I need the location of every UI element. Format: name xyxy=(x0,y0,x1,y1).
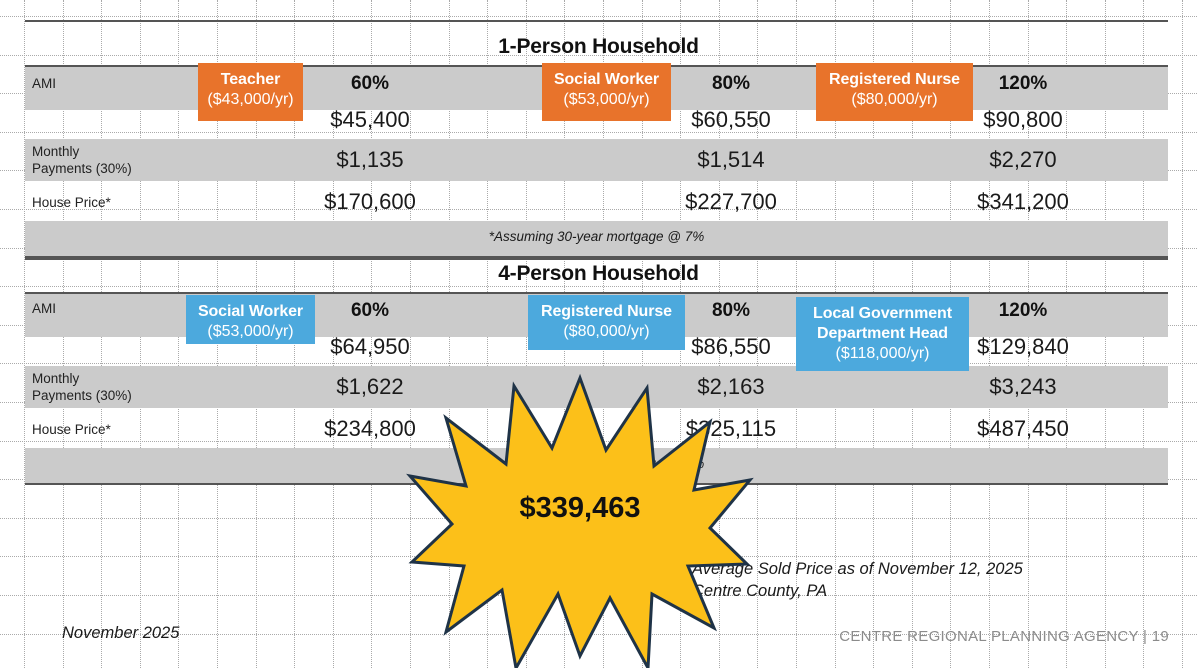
section2-chip-local-government-department-head[interactable]: Local Government Department Head ($118,0… xyxy=(796,297,969,371)
section2-monthly-120: $3,243 xyxy=(958,374,1088,400)
slide-canvas: 1-Person Household AMI Monthly Payments … xyxy=(0,0,1197,668)
chip-title: Registered Nurse xyxy=(528,302,685,322)
section1-monthly-80: $1,514 xyxy=(666,147,796,173)
chip-title: Local Government Department Head xyxy=(796,304,969,344)
section2-label-monthly: Monthly Payments (30%) xyxy=(32,370,132,404)
footer-brand: CENTRE REGIONAL PLANNING AGENCY | 19 xyxy=(839,628,1169,645)
section2-chip-registered-nurse[interactable]: Registered Nurse ($80,000/yr) xyxy=(528,295,685,350)
section1-house-price-120: $341,200 xyxy=(958,189,1088,215)
chip-title: Teacher xyxy=(198,70,303,90)
spellcheck-underline: yr xyxy=(631,323,644,341)
section1-chip-teacher[interactable]: Teacher ($43,000/yr) xyxy=(198,63,303,121)
guide-line-horizontal xyxy=(0,286,1197,287)
chip-salary: ($43,000/yr) xyxy=(198,90,303,110)
section2-ami-60: $64,950 xyxy=(305,334,435,360)
section2-pct-80: 80% xyxy=(666,300,796,322)
section2-house-price-120: $487,450 xyxy=(958,416,1088,442)
section1-top-rule xyxy=(25,20,1168,22)
section2-pct-60: 60% xyxy=(305,300,435,322)
section2-chip-social-worker[interactable]: Social Worker ($53,000/yr) xyxy=(186,295,315,344)
section1-monthly-120: $2,270 xyxy=(958,147,1088,173)
section1-ami-80: $60,550 xyxy=(666,107,796,133)
section2-title: 4-Person Household xyxy=(0,262,1197,286)
section1-house-price-80: $227,700 xyxy=(666,189,796,215)
section1-label-monthly: Monthly Payments (30%) xyxy=(32,143,132,177)
section1-pct-120: 120% xyxy=(958,73,1088,95)
spellcheck-underline: yr xyxy=(919,91,932,109)
chip-salary: ($53,000/yr) xyxy=(542,90,671,110)
guide-line-vertical xyxy=(1182,0,1183,668)
chip-salary: ($80,000/yr) xyxy=(528,322,685,342)
spellcheck-underline: yr xyxy=(275,91,288,109)
footer-date: November 2025 xyxy=(62,624,179,643)
section1-house-price-60: $170,600 xyxy=(305,189,435,215)
section1-pct-60: 60% xyxy=(305,73,435,95)
section1-pct-80: 80% xyxy=(666,73,796,95)
spellcheck-underline: yr xyxy=(631,91,644,109)
guide-line-horizontal xyxy=(0,363,1197,364)
section1-chip-registered-nurse[interactable]: Registered Nurse ($80,000/yr) xyxy=(816,63,973,121)
chip-title: Registered Nurse xyxy=(816,70,973,90)
spellcheck-underline: yr xyxy=(911,345,924,363)
section1-chip-social-worker[interactable]: Social Worker ($53,000/yr) xyxy=(542,63,671,121)
section2-label-ami: AMI xyxy=(32,300,56,317)
chip-salary: ($118,000/yr) xyxy=(796,344,969,364)
spellcheck-underline: yr xyxy=(275,323,288,341)
chip-title: Social Worker xyxy=(186,302,315,322)
section2-pct-120: 120% xyxy=(958,300,1088,322)
section2-ami-120: $129,840 xyxy=(958,334,1088,360)
section1-monthly-60: $1,135 xyxy=(305,147,435,173)
chip-title: Social Worker xyxy=(542,70,671,90)
starburst-value: $339,463 xyxy=(410,492,750,525)
section1-label-ami: AMI xyxy=(32,75,56,92)
section2-ami-80: $86,550 xyxy=(666,334,796,360)
chip-salary: ($53,000/yr) xyxy=(186,322,315,342)
guide-line-horizontal xyxy=(0,16,1197,17)
section1-footnote: *Assuming 30-year mortgage @ 7% xyxy=(25,229,1168,244)
chip-salary: ($80,000/yr) xyxy=(816,90,973,110)
section2-label-house-price: House Price* xyxy=(32,421,111,438)
section1-ami-60: $45,400 xyxy=(305,107,435,133)
section1-label-house-price: House Price* xyxy=(32,194,111,211)
section1-ami-120: $90,800 xyxy=(958,107,1088,133)
section1-title: 1-Person Household xyxy=(0,35,1197,59)
section2-top-rule xyxy=(25,258,1168,260)
